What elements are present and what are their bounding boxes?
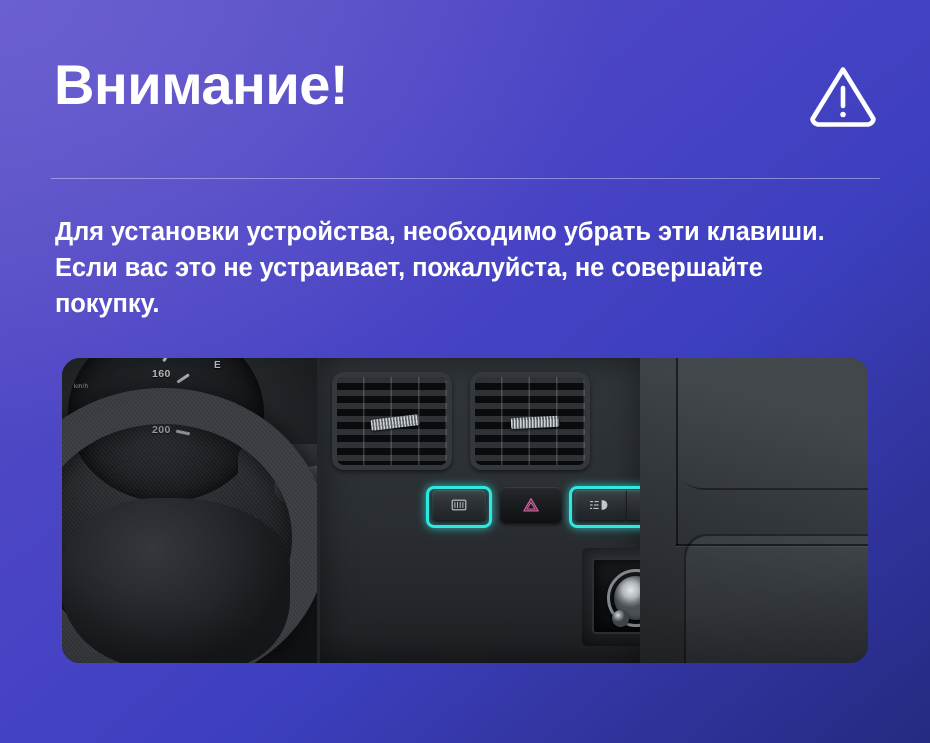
front-fog-light-button[interactable] xyxy=(574,490,626,520)
upper-dash-panel xyxy=(678,358,868,490)
gauge-tick-mark xyxy=(176,373,189,383)
centre-console-stack xyxy=(320,358,642,663)
hazard-lights-button[interactable] xyxy=(500,487,562,523)
passenger-dashboard-panel xyxy=(640,358,868,663)
warning-triangle-icon xyxy=(808,62,878,128)
warning-slide: Внимание! Для установки устройства, необ… xyxy=(0,0,930,743)
hazard-triangle-icon xyxy=(523,498,540,513)
dashboard-button-row xyxy=(320,484,642,532)
warning-paragraph: Для установки устройства, необходимо убр… xyxy=(55,214,865,322)
front-fog-lamp-icon xyxy=(589,499,611,511)
steering-wheel-hub xyxy=(62,498,290,663)
rear-defogger-button[interactable] xyxy=(432,490,486,520)
panel-seam xyxy=(676,358,678,546)
gauge-tick-160: 160 xyxy=(152,368,171,380)
header-divider xyxy=(51,178,880,179)
gauge-unit-label: km/h xyxy=(74,384,88,390)
car-dashboard-photo: km/h 140 160 180 200 E C xyxy=(62,358,868,663)
rear-defogger-icon xyxy=(452,500,467,511)
page-title: Внимание! xyxy=(54,56,348,115)
air-vent-right[interactable] xyxy=(470,372,590,470)
secondary-knob[interactable] xyxy=(612,610,629,627)
gauge-tick-mark xyxy=(162,358,172,362)
panel-seam xyxy=(676,544,868,546)
glovebox-panel xyxy=(684,534,868,663)
fuel-empty-glyph: E xyxy=(214,360,221,371)
air-vent-left[interactable] xyxy=(332,372,452,470)
